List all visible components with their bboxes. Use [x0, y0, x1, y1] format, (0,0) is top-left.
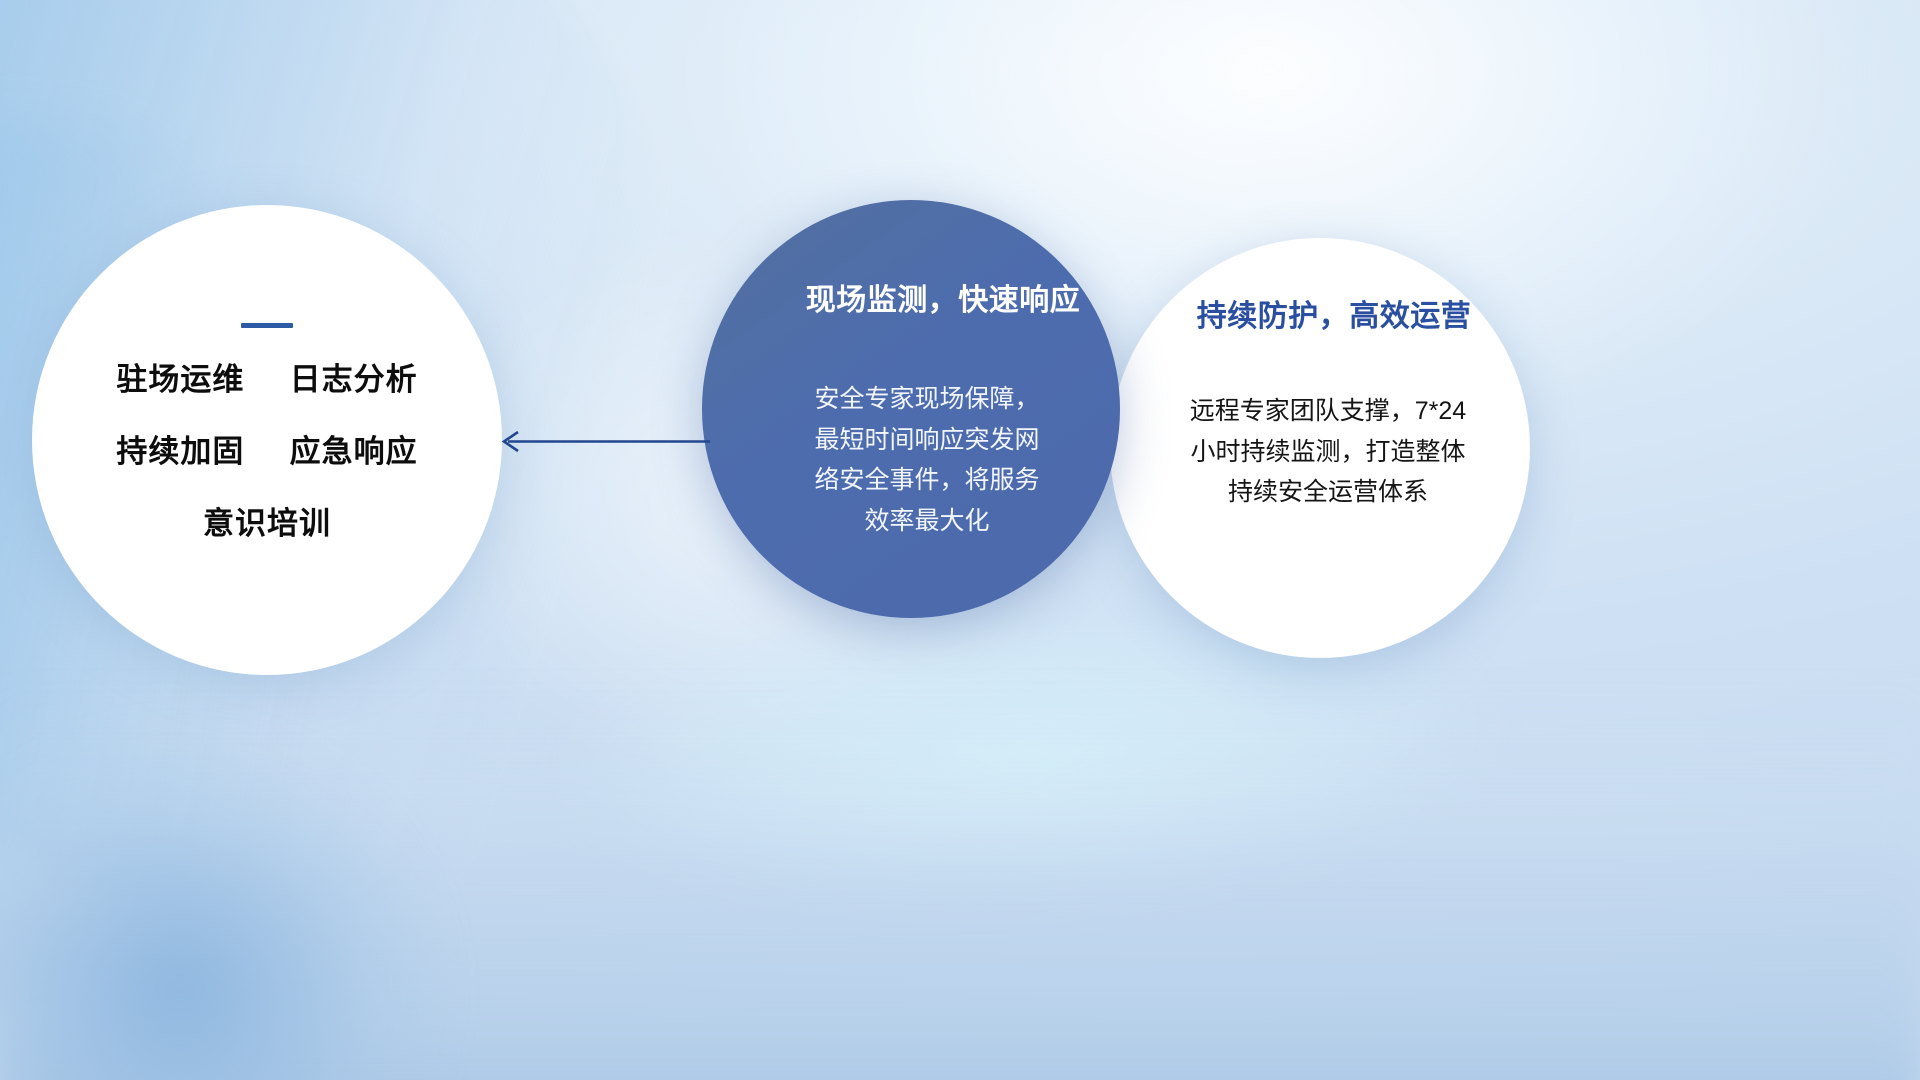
middle-circle-card: 现场监测，快速响应 安全专家现场保障， 最短时间响应突发网 络安全事件，将服务 …	[702, 200, 1120, 618]
left-circle-keyword-list: 驻场运维 日志分析 持续加固 应急响应 意识培训	[32, 364, 502, 539]
connector-arrow	[492, 420, 712, 464]
right-circle-title: 持续防护，高效运营	[1197, 300, 1472, 333]
keyword: 驻场运维	[116, 362, 244, 397]
body-line: 络安全事件，将服务	[777, 460, 1077, 501]
body-line: 持续安全运营体系	[1150, 472, 1506, 513]
middle-circle-body: 安全专家现场保障， 最短时间响应突发网 络安全事件，将服务 效率最大化	[777, 379, 1077, 541]
body-line: 安全专家现场保障，	[777, 379, 1077, 420]
keyword: 应急响应	[290, 434, 418, 469]
list-item: 持续加固 应急响应	[32, 436, 502, 467]
body-line: 远程专家团队支撑，7*24	[1150, 391, 1506, 432]
divider-dash	[241, 323, 293, 328]
body-line: 效率最大化	[777, 501, 1077, 542]
list-item: 意识培训	[32, 508, 502, 539]
body-line: 最短时间响应突发网	[777, 420, 1077, 461]
body-line: 小时持续监测，打造整体	[1150, 432, 1506, 473]
background-bottom-left-glow	[0, 680, 500, 1080]
left-circle-card: 驻场运维 日志分析 持续加固 应急响应 意识培训	[32, 205, 502, 675]
right-circle-body: 远程专家团队支撑，7*24 小时持续监测，打造整体 持续安全运营体系	[1150, 391, 1506, 513]
keyword: 意识培训	[203, 506, 331, 541]
slide-canvas: 驻场运维 日志分析 持续加固 应急响应 意识培训 现场监测，快速响应 安全专家现…	[0, 0, 1920, 1080]
middle-circle-title: 现场监测，快速响应	[806, 284, 1081, 317]
keyword: 日志分析	[290, 362, 418, 397]
left-arrow-icon	[492, 420, 712, 464]
right-circle-card: 持续防护，高效运营 远程专家团队支撑，7*24 小时持续监测，打造整体 持续安全…	[1110, 238, 1530, 658]
list-item: 驻场运维 日志分析	[32, 364, 502, 395]
keyword: 持续加固	[116, 434, 244, 469]
